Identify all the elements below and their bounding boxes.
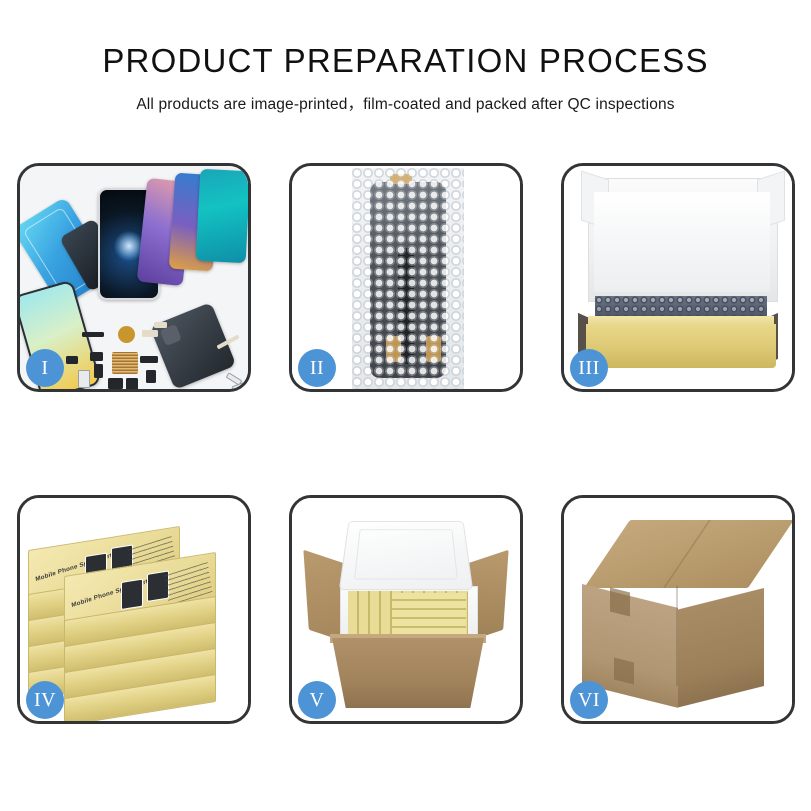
page-header: PRODUCT PREPARATION PROCESS All products… (0, 0, 811, 114)
carton-tape-upper-icon (610, 588, 630, 617)
packed-boxes-secondary-icon (392, 593, 466, 635)
step-badge-4: IV (26, 681, 64, 719)
part-pale-2-icon (154, 322, 167, 328)
step-panel-1: I (17, 163, 251, 392)
carton-right-face-icon (678, 588, 764, 707)
step-panel-2: II (289, 163, 523, 392)
step-panel-3: III (561, 163, 795, 392)
part-pale-1-icon (142, 330, 158, 337)
foam-lid-icon (339, 521, 473, 590)
part-white-1-icon (78, 370, 90, 388)
page-subtitle: All products are image-printed，film-coat… (0, 92, 811, 114)
phone-teal-icon (196, 169, 248, 263)
box-front-panel-icon (586, 324, 776, 368)
step-badge-6: VI (570, 681, 608, 719)
part-chip-6-icon (66, 356, 78, 364)
step-panel-5: V (289, 495, 523, 724)
process-steps-grid: I II III (17, 163, 794, 724)
step-badge-1: I (26, 349, 64, 387)
part-copper-mesh-icon (112, 352, 138, 374)
part-chip-2-icon (94, 364, 103, 378)
step-badge-3: III (570, 349, 608, 387)
carton-seam-icon (676, 586, 678, 686)
box-print-image-3 (121, 579, 143, 610)
carton-body-icon (332, 638, 484, 708)
foam-sheet-icon (594, 192, 770, 292)
part-gold-coil-icon (118, 326, 135, 343)
part-chip-1-icon (90, 352, 103, 361)
step-panel-4: Mobile Phone Spare Parts Mobile Phone Sp… (17, 495, 251, 724)
page-title: PRODUCT PREPARATION PROCESS (0, 44, 811, 79)
step-badge-2: II (298, 349, 336, 387)
bubble-texture-overlay (352, 168, 464, 389)
step-panel-6: VI (561, 495, 795, 724)
part-chip-4-icon (126, 378, 138, 389)
carton-tape-lower-icon (614, 658, 634, 685)
part-flex-1-icon (140, 356, 158, 363)
step-badge-5: V (298, 681, 336, 719)
part-strip-1-icon (82, 332, 104, 337)
part-chip-5-icon (146, 370, 156, 383)
part-chip-3-icon (108, 378, 123, 389)
carton-top-face-icon (584, 520, 792, 588)
bubble-wrap-sheet-icon (352, 168, 464, 389)
